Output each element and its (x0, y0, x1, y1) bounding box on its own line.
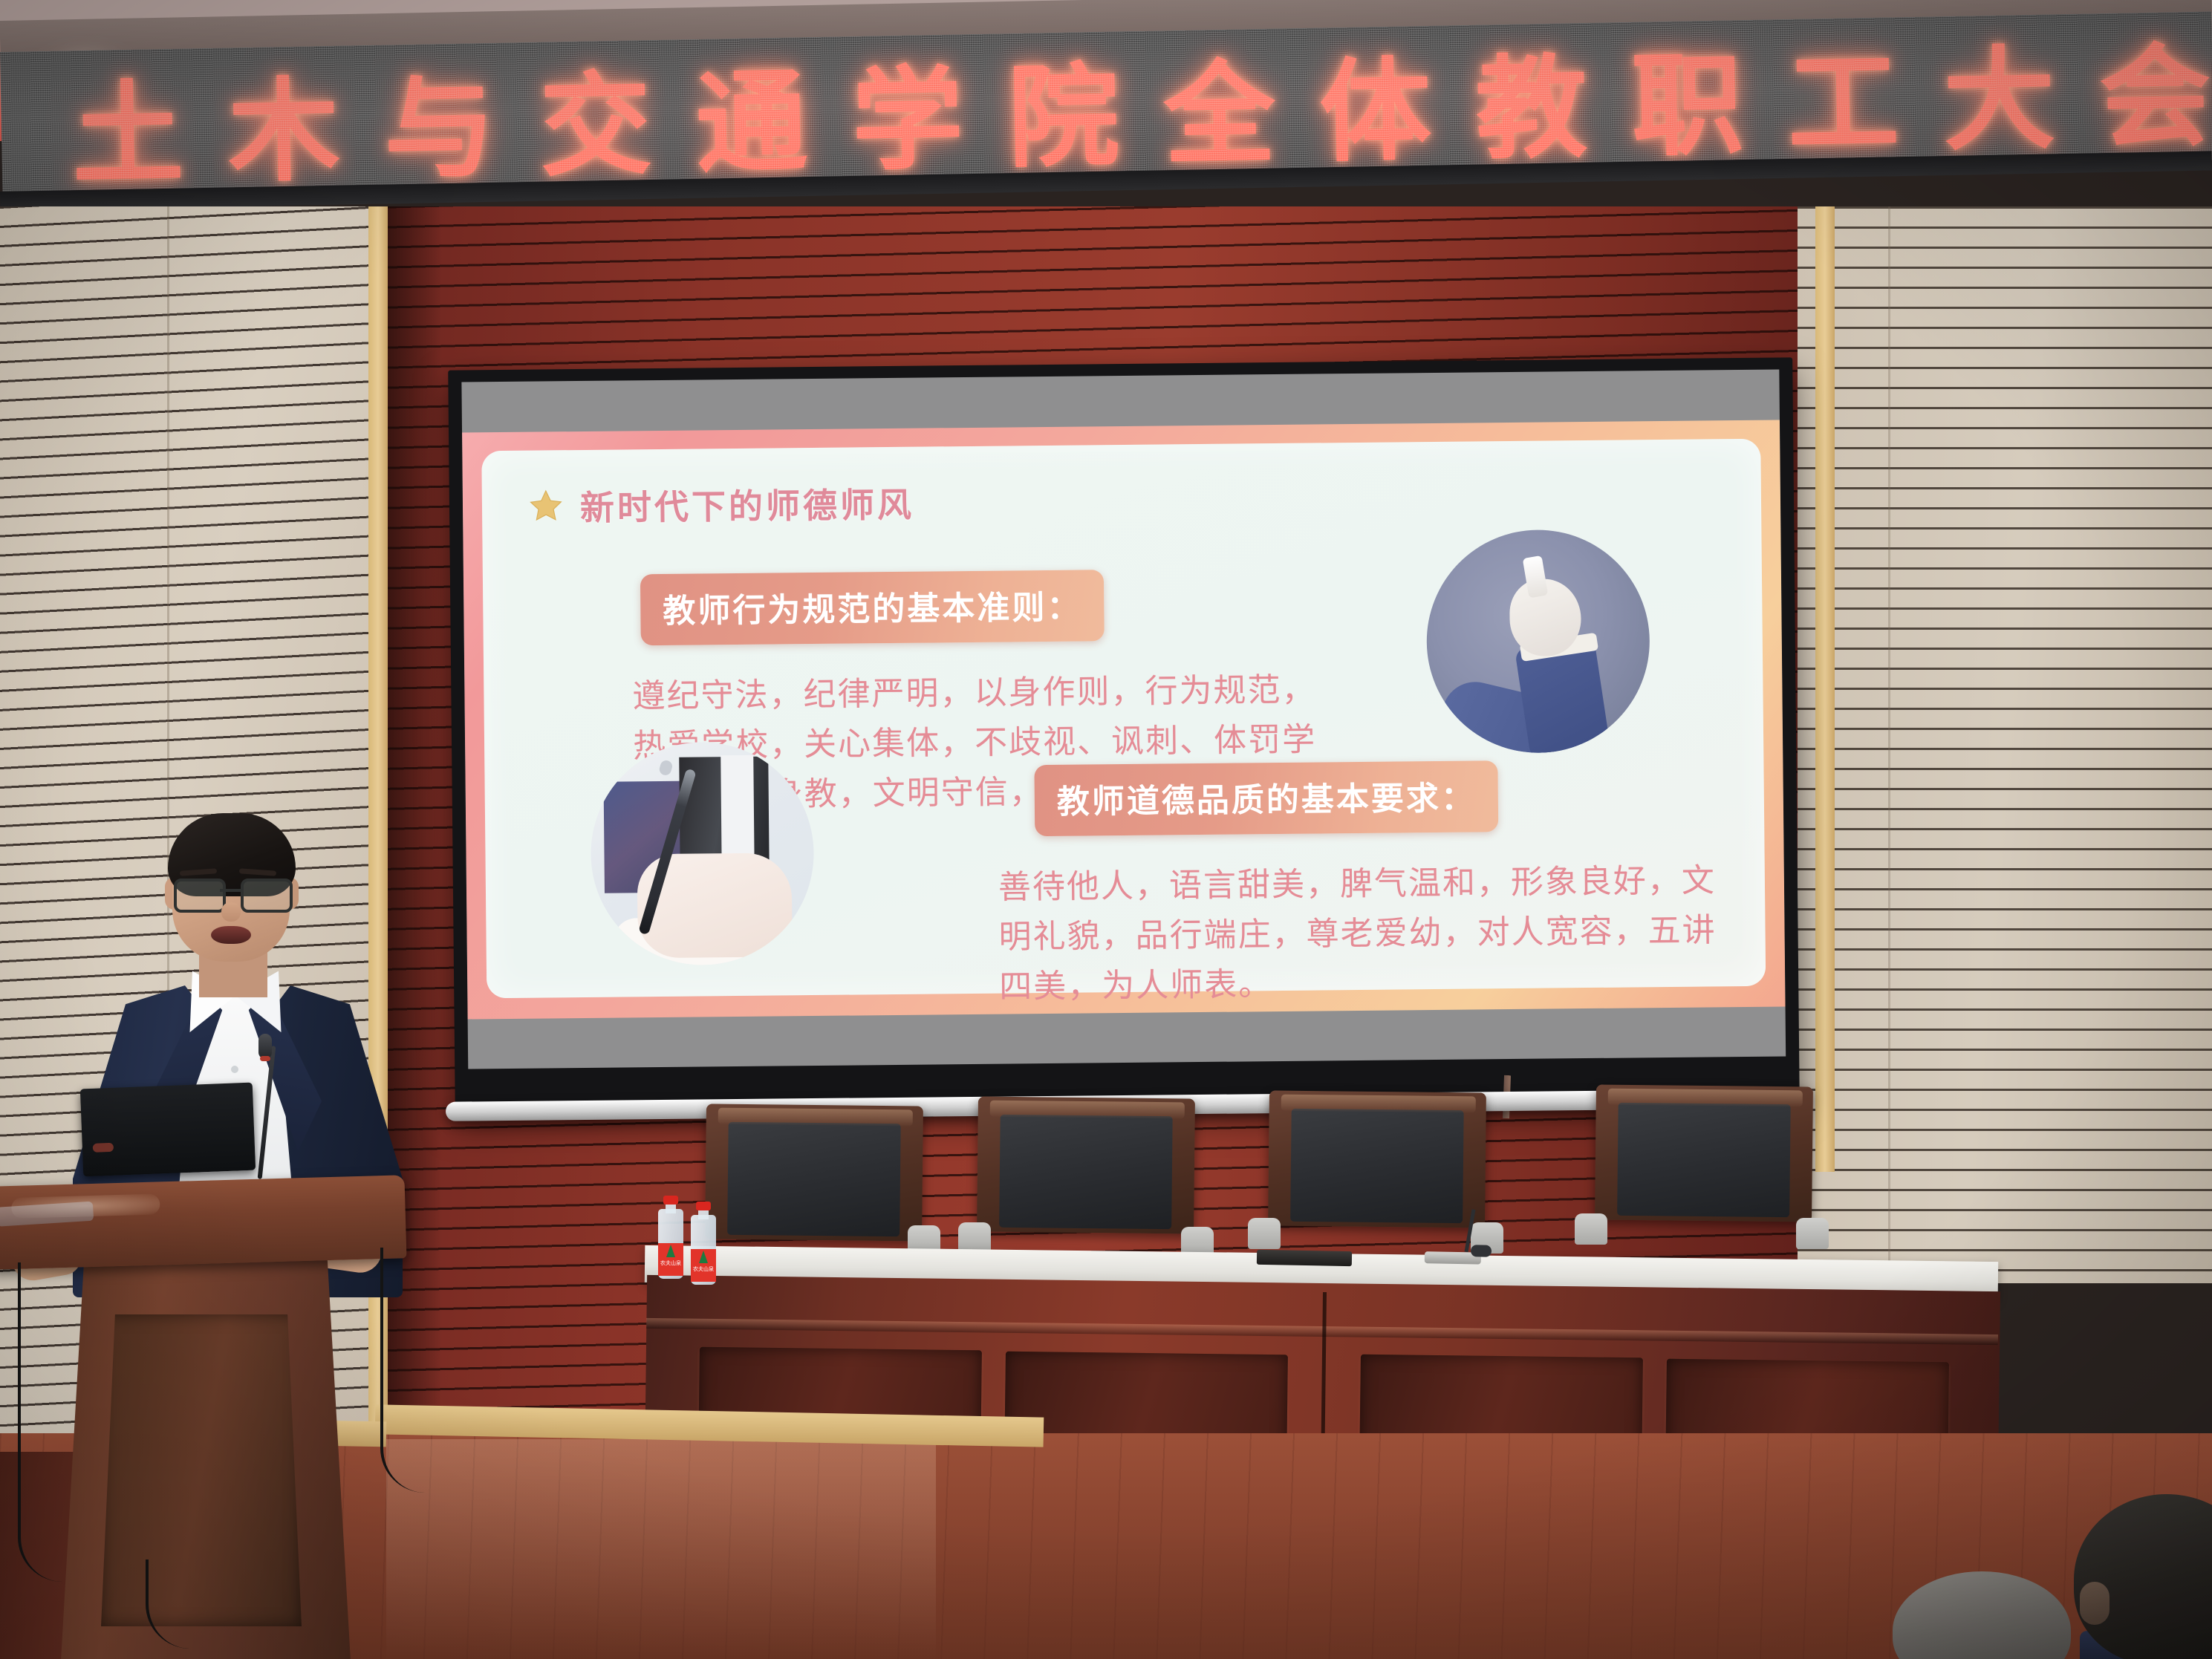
led-banner-char: 学 (850, 29, 965, 192)
wall-trim-right (1815, 206, 1835, 1172)
water-bottle[interactable]: 农夫山泉 (691, 1202, 716, 1285)
led-banner-char: 与 (383, 37, 497, 201)
laptop-sticker (93, 1143, 114, 1153)
desk-microphone[interactable] (1425, 1241, 1494, 1265)
slide-card: 新时代下的师德师风 教师行为规范的基本准则： 遵纪守法，纪律严明，以身作则，行为… (481, 439, 1766, 998)
led-banner-char: 工 (1786, 12, 1900, 175)
star-icon (528, 488, 564, 524)
conference-chair (1268, 1090, 1486, 1228)
water-bottle[interactable]: 农夫山泉 (658, 1196, 683, 1279)
audience-ear (2080, 1582, 2109, 1625)
led-banner-char: 大 (1942, 11, 2056, 172)
slide-header: 新时代下的师德师风 (528, 478, 915, 531)
presentation-slide: 新时代下的师德师风 教师行为规范的基本准则： 遵纪守法，纪律严明，以身作则，行为… (462, 420, 1786, 1020)
bottle-brand-label: 农夫山泉 (658, 1259, 683, 1267)
wall-right-acoustic-panel (1798, 206, 2212, 1283)
spring-tree-logo-icon (666, 1245, 675, 1257)
slide-heading-1: 教师行为规范的基本准则： (640, 570, 1105, 645)
chair-armrest (1575, 1213, 1607, 1245)
led-banner-char: 院 (1006, 26, 1121, 189)
spring-tree-logo-icon (699, 1251, 708, 1263)
led-banner-char: 木 (227, 40, 341, 201)
cable (146, 1559, 238, 1649)
podium-top-surface (0, 1175, 406, 1270)
speaker-nose (221, 902, 241, 922)
speaker-mouth (211, 926, 251, 944)
cable (380, 1248, 435, 1493)
led-banner-char: 会 (2098, 11, 2212, 169)
bottle-brand-label: 农夫山泉 (691, 1265, 716, 1273)
floor-reflection (386, 1439, 936, 1659)
conference-hall-photo: 土木与交通学院全体教职工大会 新时代下的师德师风 教师行为规范的基本准则： 遵纪… (0, 0, 2212, 1659)
conference-chair (1595, 1084, 1813, 1222)
projection-screen: 新时代下的师德师风 教师行为规范的基本准则： 遵纪守法，纪律严明，以身作则，行为… (448, 357, 1800, 1112)
conference-chair (977, 1096, 1195, 1233)
nameplate (1257, 1250, 1352, 1266)
projection-screen-surface: 新时代下的师德师风 教师行为规范的基本准则： 遵纪守法，纪律严明，以身作则，行为… (461, 370, 1786, 1069)
podium-laptop[interactable] (80, 1083, 256, 1177)
bottle-cap (663, 1196, 678, 1205)
led-banner-char: 交 (539, 34, 653, 198)
slide-image-pen-writing (590, 741, 815, 966)
podium-microphone[interactable] (258, 1034, 272, 1059)
slide-image-chalk-writing (1425, 529, 1650, 754)
led-banner-char: 职 (1630, 15, 1744, 178)
chair-armrest (1796, 1218, 1829, 1249)
led-banner-char: 全 (1162, 23, 1276, 186)
microphone-indicator-light (260, 1056, 270, 1061)
chair-armrest (1248, 1218, 1281, 1249)
led-banner-char: 体 (1318, 20, 1432, 183)
slide-body-2: 善待他人，语言甜美，脾气温和，形象良好，文明礼貌，品行端庄，尊老爱幼，对人宽容，… (998, 856, 1743, 1012)
led-banner-char: 通 (694, 32, 809, 195)
led-banner-char: 教 (1474, 17, 1588, 180)
slide-title: 新时代下的师德师风 (580, 478, 915, 530)
led-banner-char: 土 (71, 43, 185, 201)
cable (18, 1262, 65, 1582)
bottle-cap (696, 1202, 711, 1210)
conference-chair (705, 1104, 923, 1241)
slide-heading-2: 教师道德品质的基本要求： (1034, 760, 1498, 836)
